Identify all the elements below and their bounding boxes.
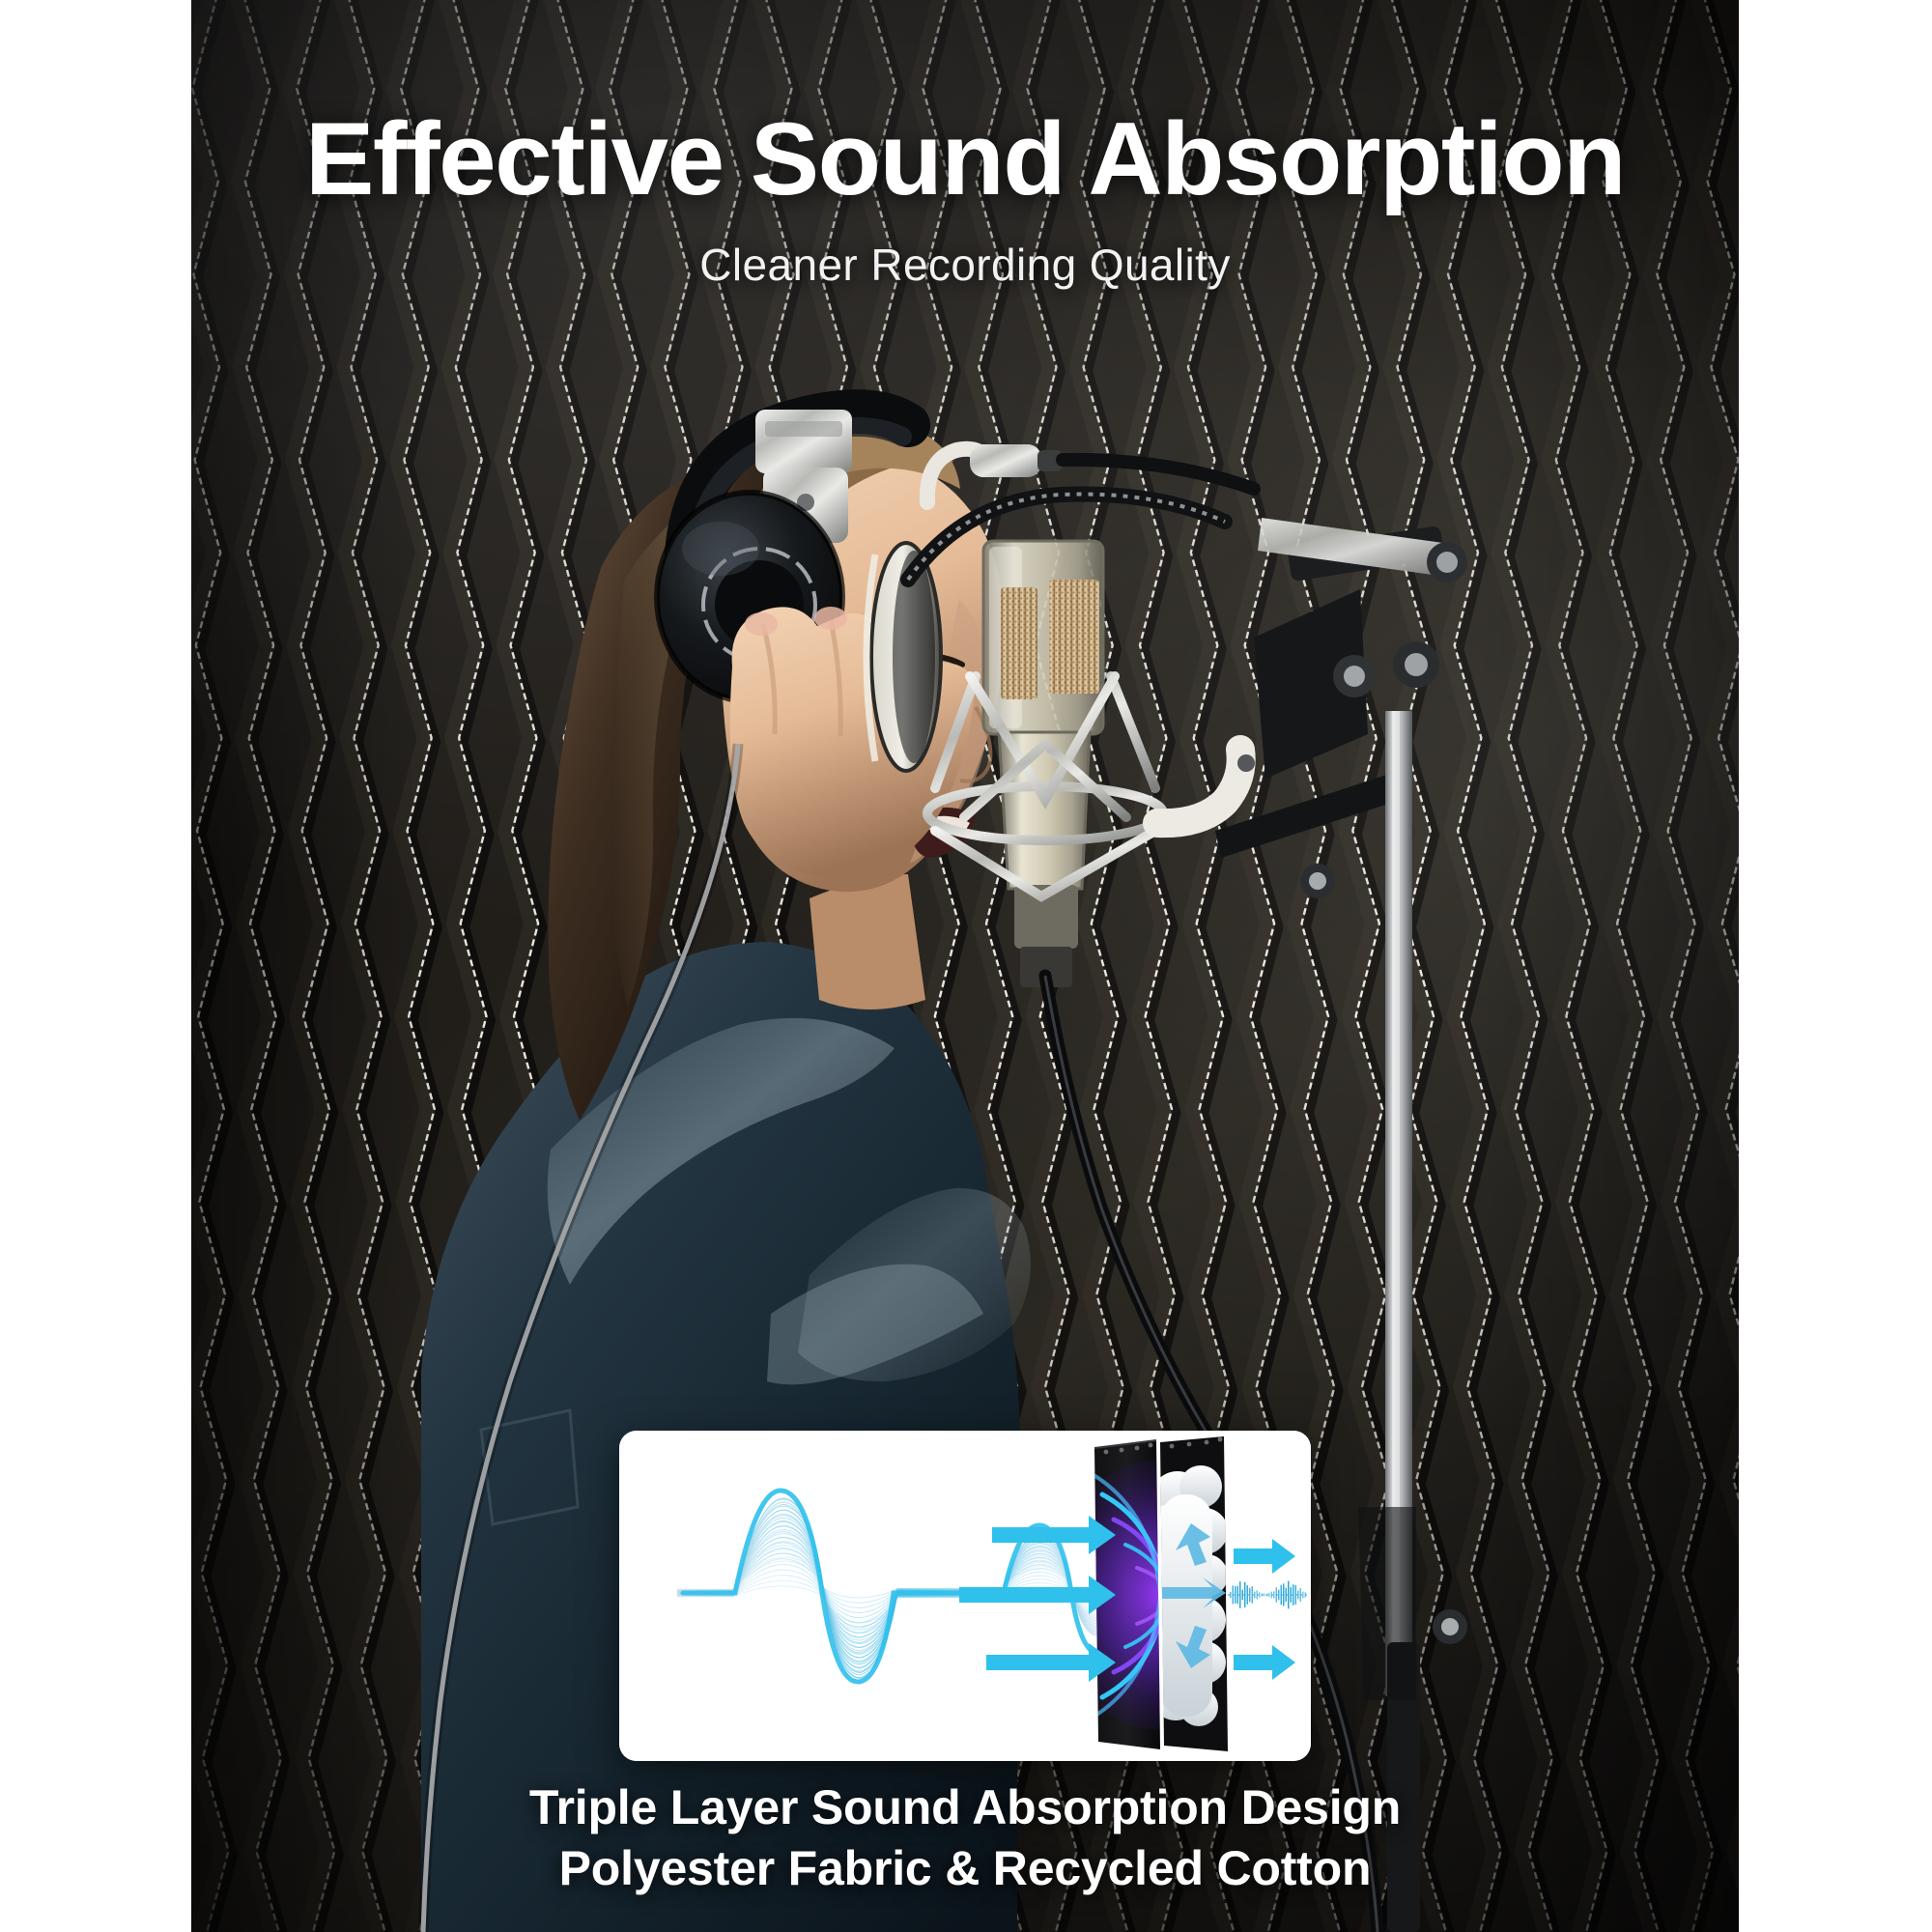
product-feature-image: Effective Sound Absorption Cleaner Recor…	[0, 0, 1932, 1932]
studio-photo: Effective Sound Absorption Cleaner Recor…	[191, 0, 1739, 1932]
condenser-microphone	[983, 541, 1103, 987]
sound-absorption-diagram	[619, 1431, 1311, 1761]
